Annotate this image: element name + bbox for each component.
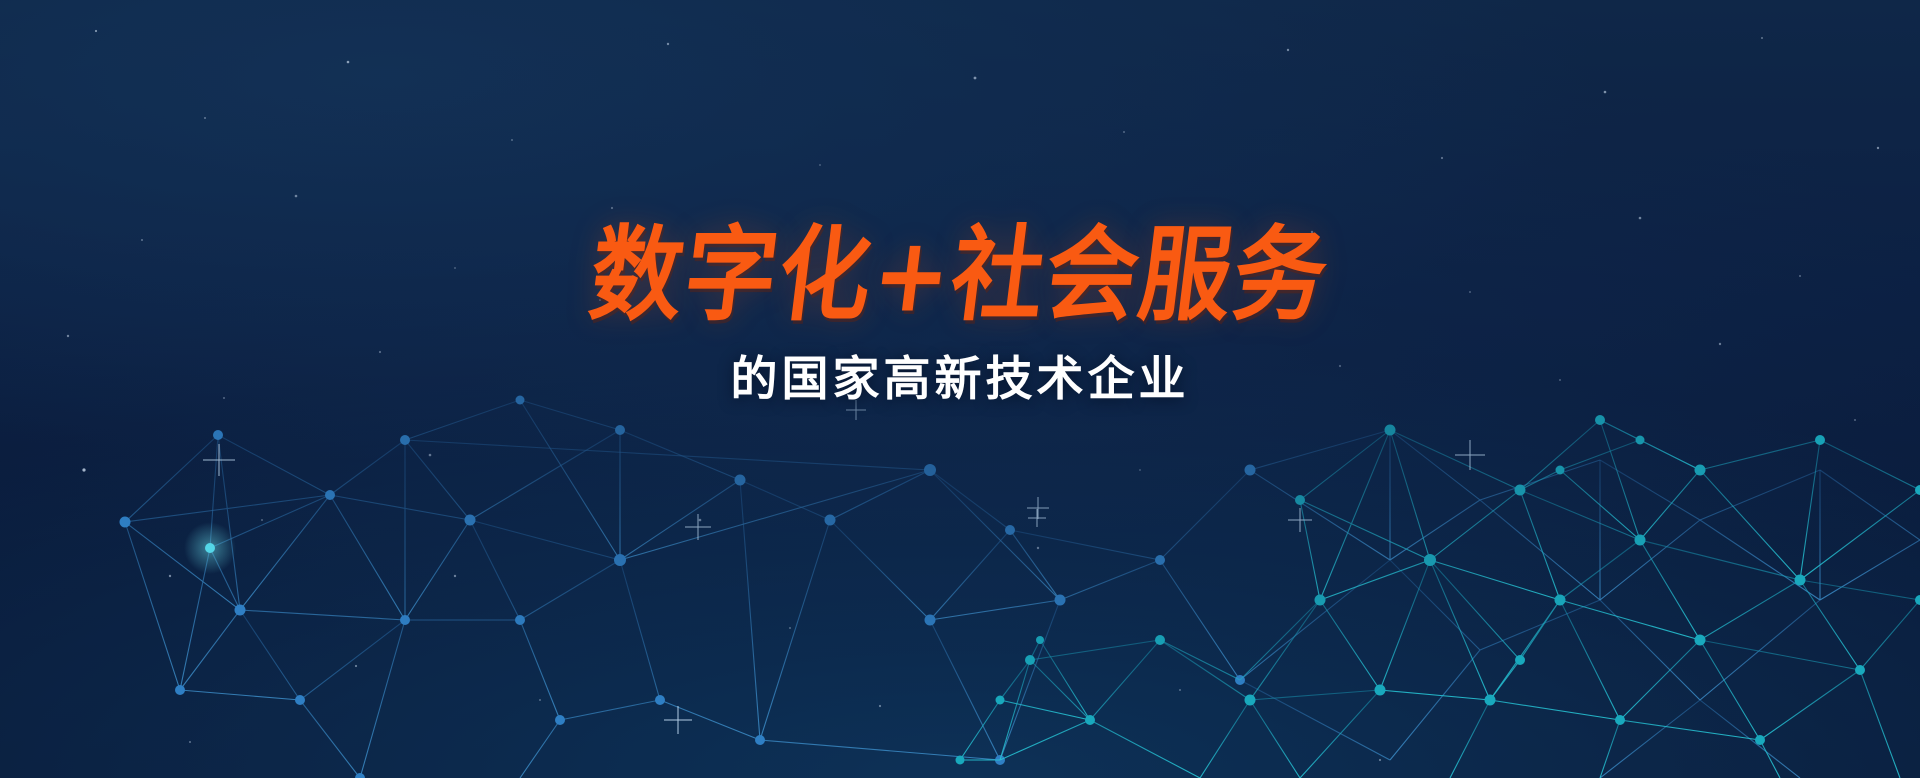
star-particles bbox=[0, 0, 1920, 778]
hero-banner: 数字化+社会服务 的国家高新技术企业 bbox=[0, 0, 1920, 778]
